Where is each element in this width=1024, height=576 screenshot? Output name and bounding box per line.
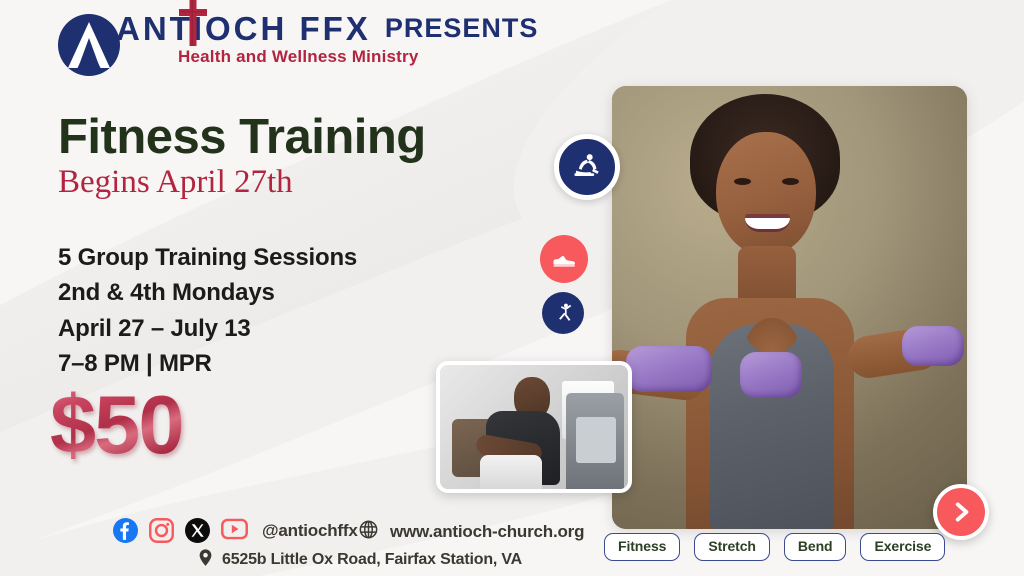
hero-figure-face xyxy=(716,132,816,256)
social-links: @antiochffx xyxy=(113,518,358,543)
yoga-pose-icon xyxy=(554,134,620,200)
tag-pill-exercise[interactable]: Exercise xyxy=(860,533,945,561)
detail-line: April 27 – July 13 xyxy=(58,311,357,346)
tag-pill-fitness[interactable]: Fitness xyxy=(604,533,680,561)
dumbbell-icon xyxy=(902,326,964,366)
page-subtitle: Begins April 27th xyxy=(58,164,293,200)
dumbbell-icon xyxy=(626,346,712,392)
instagram-icon[interactable] xyxy=(149,518,174,543)
hero-photo xyxy=(612,86,967,529)
detail-line: 7–8 PM | MPR xyxy=(58,346,357,381)
secondary-photo xyxy=(436,361,632,493)
page-title: Fitness Training xyxy=(58,112,426,163)
social-handle: @antiochffx xyxy=(262,521,358,541)
youtube-icon[interactable] xyxy=(221,518,246,543)
detail-line: 2nd & 4th Mondays xyxy=(58,275,357,310)
detail-line: 5 Group Training Sessions xyxy=(58,240,357,275)
facebook-icon[interactable] xyxy=(113,518,138,543)
brand-header: ANTIOCH FFX PRESENTS Health and Wellness… xyxy=(58,12,538,76)
hero-figure-smile xyxy=(745,214,790,232)
price-amount: $50 xyxy=(50,383,182,466)
brand-name: ANTIOCH FFX xyxy=(116,12,371,45)
location-pin-icon xyxy=(196,548,215,572)
antioch-arch-logo-icon xyxy=(58,14,120,76)
globe-icon xyxy=(358,519,379,545)
x-twitter-icon[interactable] xyxy=(185,518,210,543)
running-shoe-icon xyxy=(540,235,588,283)
christian-cross-icon xyxy=(178,0,208,51)
hero-figure-eye xyxy=(782,178,799,185)
session-details: 5 Group Training Sessions 2nd & 4th Mond… xyxy=(58,240,357,381)
stretch-pose-icon xyxy=(542,292,584,334)
ministry-tagline: Health and Wellness Ministry xyxy=(178,47,538,67)
address-block: 6525b Little Ox Road, Fairfax Station, V… xyxy=(196,548,522,572)
treadmill-panel xyxy=(576,417,616,463)
tag-pill-stretch[interactable]: Stretch xyxy=(694,533,770,561)
presents-label: PRESENTS xyxy=(385,15,539,42)
chevron-right-icon xyxy=(948,499,974,525)
dumbbell-icon xyxy=(740,352,802,398)
website-link[interactable]: www.antioch-church.org xyxy=(358,519,584,545)
tag-pill-group: Fitness Stretch Bend Exercise xyxy=(604,533,945,561)
website-url: www.antioch-church.org xyxy=(390,522,584,542)
flyer-canvas: ANTIOCH FFX PRESENTS Health and Wellness… xyxy=(0,0,1024,576)
next-arrow-button[interactable] xyxy=(933,484,989,540)
runner-legs xyxy=(480,455,542,489)
address-text: 6525b Little Ox Road, Fairfax Station, V… xyxy=(222,551,522,569)
tag-pill-bend[interactable]: Bend xyxy=(784,533,847,561)
hero-figure-eye xyxy=(734,178,751,185)
